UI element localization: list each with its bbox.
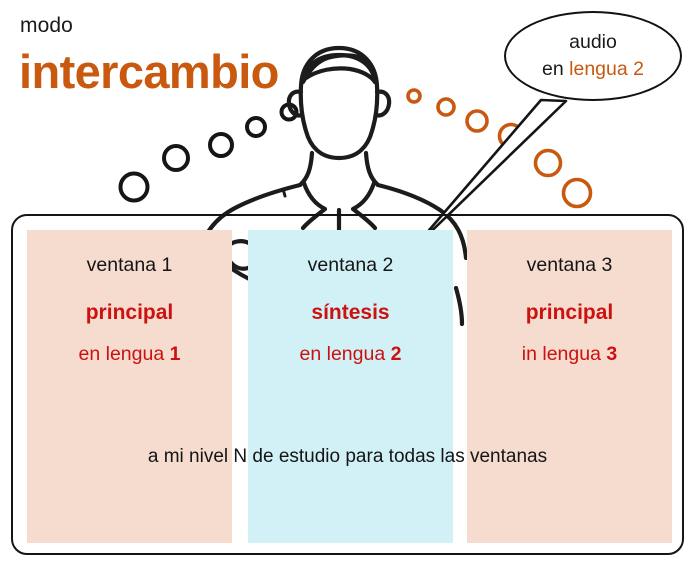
window-column-2-language: en lengua 2 [248, 343, 453, 366]
mode-label: modo [20, 14, 73, 38]
window-column-2-content: ventana 2 síntesis en lengua 2 [248, 254, 453, 366]
window-column-2-title: ventana 2 [248, 254, 453, 277]
window-column-2[interactable]: ventana 2 síntesis en lengua 2 [248, 230, 453, 543]
speech-bubble-line-2: en lengua 2 [506, 56, 680, 83]
window-column-1-content: ventana 1 principal en lengua 1 [27, 254, 232, 366]
window-column-3[interactable]: ventana 3 principal in lengua 3 [467, 230, 672, 543]
window-column-2-language-number: 2 [391, 343, 402, 365]
diagram-canvas: modo intercambio [0, 0, 695, 571]
window-column-1-language-number: 1 [170, 343, 181, 365]
window-column-3-role: principal [467, 300, 672, 325]
speech-bubble-line-2-prefix: en [542, 58, 569, 80]
speech-bubble-line-1: audio [506, 29, 680, 56]
orange-bubble-trail [408, 90, 591, 207]
window-column-3-language-prefix: in lengua [522, 343, 607, 365]
window-column-1[interactable]: ventana 1 principal en lengua 1 [27, 230, 232, 543]
window-column-1-language-prefix: en lengua [79, 343, 170, 365]
page-title: intercambio [19, 44, 279, 99]
window-column-3-language-number: 3 [606, 343, 617, 365]
speech-bubble-line-2-accent: lengua 2 [569, 58, 644, 80]
window-column-1-role: principal [27, 300, 232, 325]
window-column-3-language: in lengua 3 [467, 343, 672, 366]
window-column-1-language: en lengua 1 [27, 343, 232, 366]
speech-bubble-text: audio en lengua 2 [506, 29, 680, 83]
window-column-1-title: ventana 1 [27, 254, 232, 277]
black-bubble-trail [121, 105, 297, 201]
window-column-3-title: ventana 3 [467, 254, 672, 277]
speech-bubble: audio en lengua 2 [504, 11, 682, 101]
window-column-3-content: ventana 3 principal in lengua 3 [467, 254, 672, 366]
window-column-2-role: síntesis [248, 300, 453, 325]
footer-note: a mi nivel N de estudio para todas las v… [11, 446, 684, 468]
window-column-2-language-prefix: en lengua [300, 343, 391, 365]
